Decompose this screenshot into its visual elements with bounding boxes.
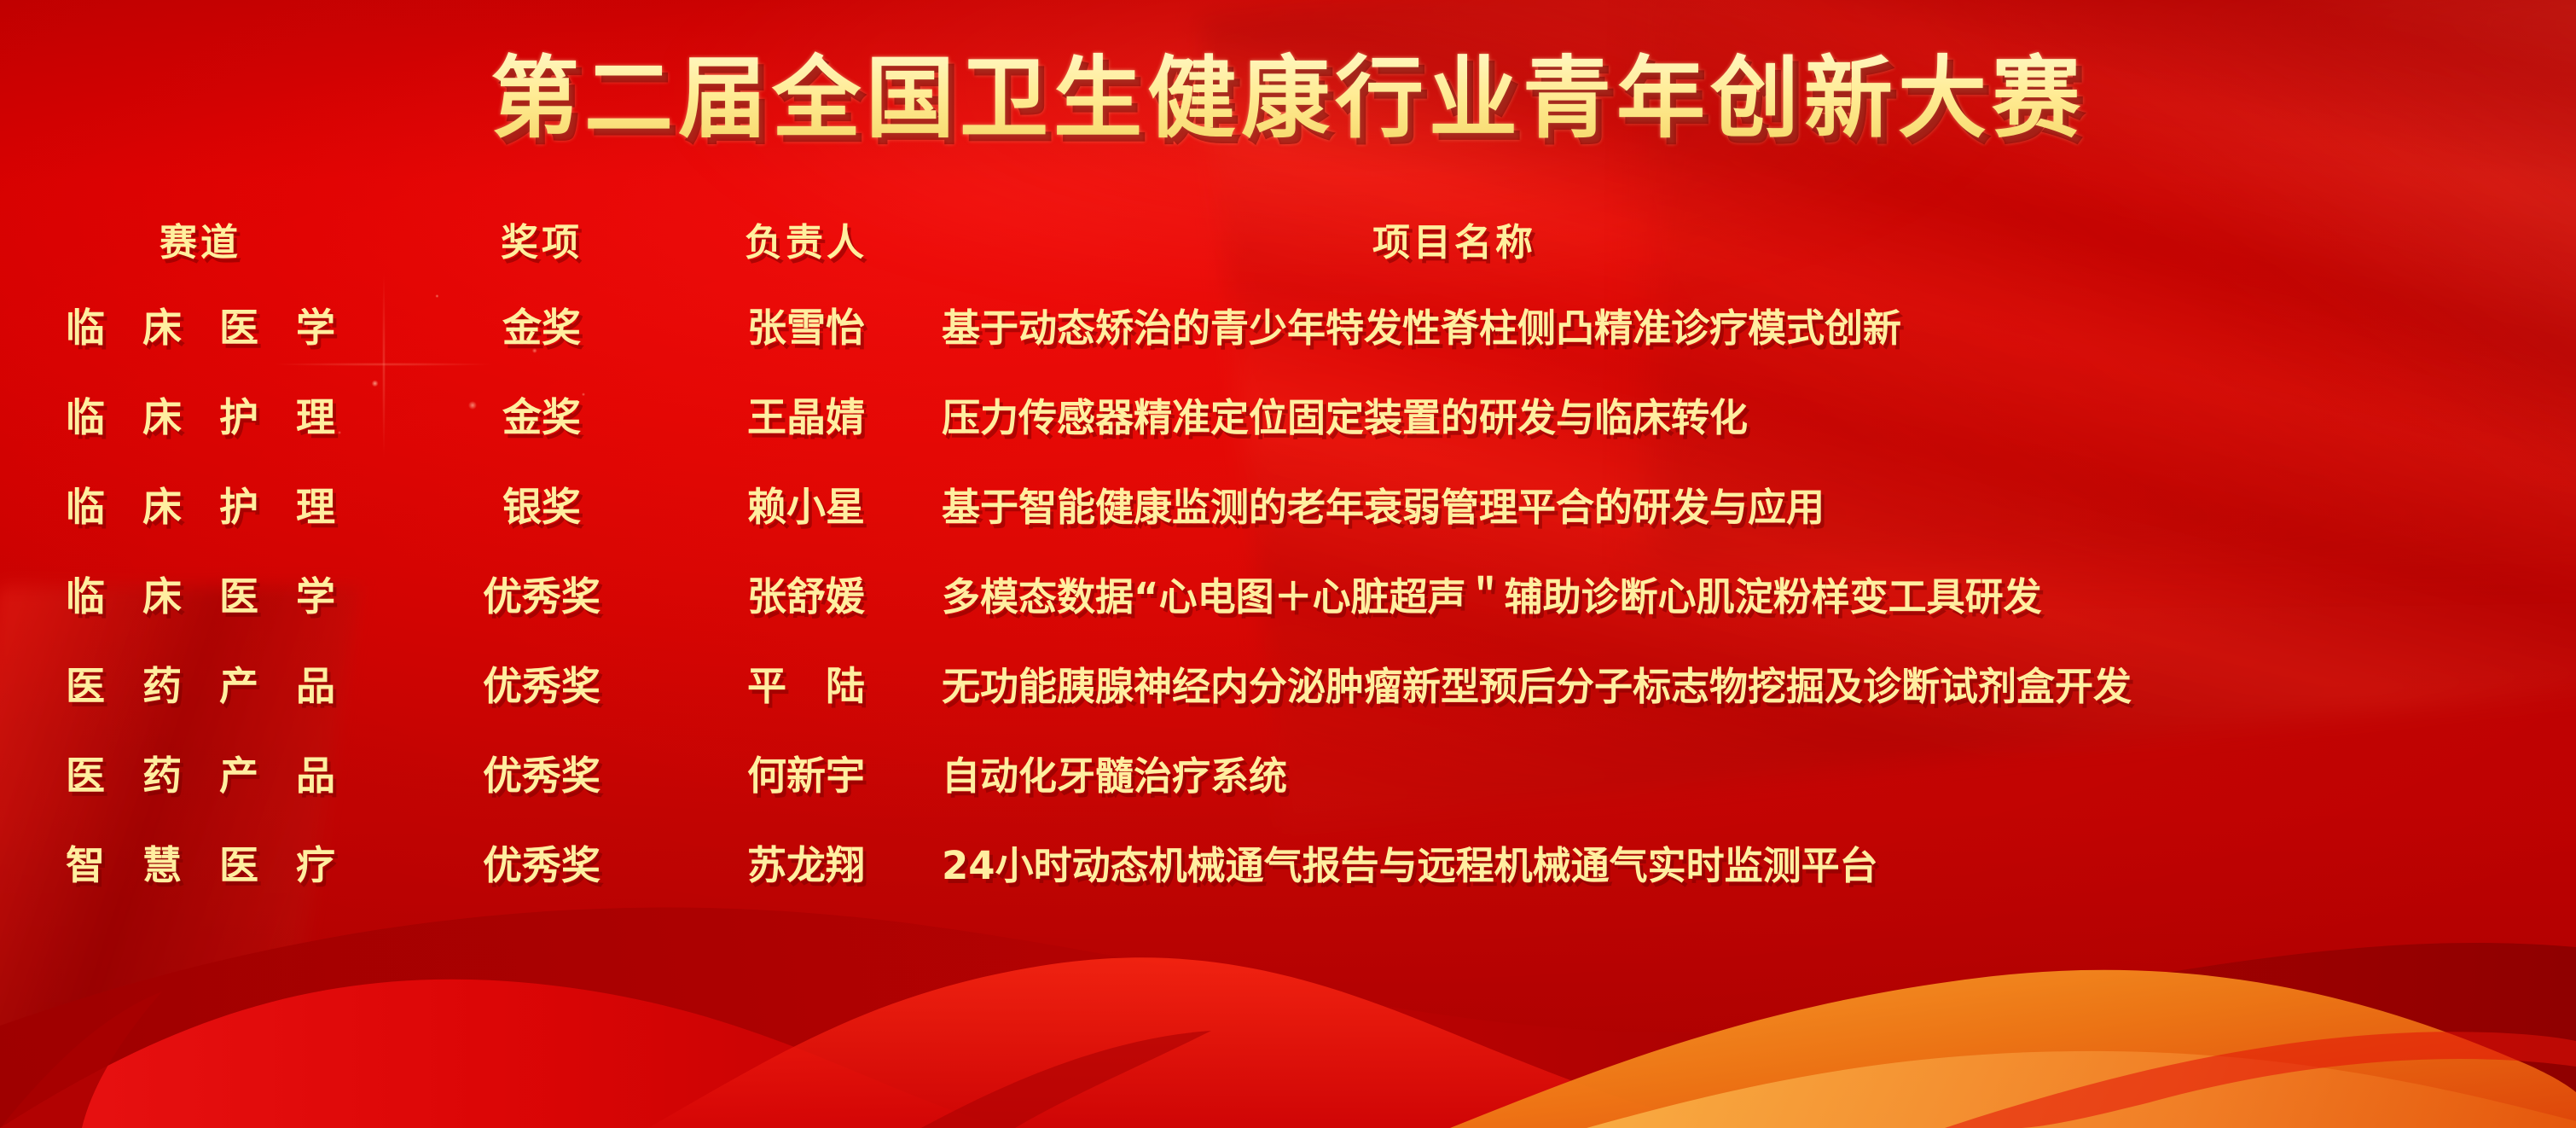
cell-award: 银奖 <box>401 476 682 532</box>
table-row: 智 慧 医 疗 优秀奖 苏龙翔 24小时动态机械通气报告与远程机械通气实时监测平… <box>0 834 2576 924</box>
cell-track: 临 床 医 学 <box>0 297 401 353</box>
table-row: 临 床 医 学 优秀奖 张舒媛 多模态数据“心电图＋心脏超声＂辅助诊断心肌淀粉样… <box>0 566 2576 655</box>
cell-project: 基于动态矫治的青少年特发性脊柱侧凸精准诊疗模式创新 <box>930 297 2576 352</box>
cell-project: 自动化牙髓治疗系统 <box>930 745 2576 800</box>
column-header-leader: 负责人 <box>682 212 930 266</box>
column-header-award: 奖项 <box>401 212 682 266</box>
title-container: 第二届全国卫生健康行业青年创新大赛 <box>0 49 2576 147</box>
cell-leader: 平 陆 <box>682 655 930 712</box>
banner-content: 第二届全国卫生健康行业青年创新大赛 赛道 奖项 负责人 项目名称 临 床 医 学… <box>0 0 2576 1128</box>
column-header-project: 项目名称 <box>930 212 2576 266</box>
table-row: 临 床 护 理 金奖 王晶婧 压力传感器精准定位固定装置的研发与临床转化 <box>0 387 2576 476</box>
cell-track: 医 药 产 品 <box>0 655 401 712</box>
table-row: 医 药 产 品 优秀奖 何新宇 自动化牙髓治疗系统 <box>0 745 2576 834</box>
table-header-row: 赛道 奖项 负责人 项目名称 <box>0 212 2576 297</box>
table-row: 医 药 产 品 优秀奖 平 陆 无功能胰腺神经内分泌肿瘤新型预后分子标志物挖掘及… <box>0 655 2576 745</box>
table-row: 临 床 护 理 银奖 赖小星 基于智能健康监测的老年衰弱管理平合的研发与应用 <box>0 476 2576 566</box>
cell-project: 24小时动态机械通气报告与远程机械通气实时监测平台 <box>930 834 2576 890</box>
cell-project: 无功能胰腺神经内分泌肿瘤新型预后分子标志物挖掘及诊断试剂盒开发 <box>930 655 2576 711</box>
cell-track: 临 床 护 理 <box>0 387 401 443</box>
cell-project: 基于智能健康监测的老年衰弱管理平合的研发与应用 <box>930 476 2576 532</box>
cell-leader: 王晶婧 <box>682 387 930 443</box>
cell-award: 金奖 <box>401 297 682 353</box>
table-row: 临 床 医 学 金奖 张雪怡 基于动态矫治的青少年特发性脊柱侧凸精准诊疗模式创新 <box>0 297 2576 387</box>
cell-track: 临 床 护 理 <box>0 476 401 532</box>
column-header-track: 赛道 <box>0 212 401 266</box>
cell-award: 优秀奖 <box>401 834 682 891</box>
cell-leader: 何新宇 <box>682 745 930 801</box>
cell-award: 优秀奖 <box>401 566 682 622</box>
cell-leader: 苏龙翔 <box>682 834 930 891</box>
cell-project: 压力传感器精准定位固定装置的研发与临床转化 <box>930 387 2576 442</box>
cell-track: 智 慧 医 疗 <box>0 834 401 891</box>
cell-leader: 张舒媛 <box>682 566 930 622</box>
cell-award: 金奖 <box>401 387 682 443</box>
cell-leader: 张雪怡 <box>682 297 930 353</box>
award-list-table: 赛道 奖项 负责人 项目名称 临 床 医 学 金奖 张雪怡 基于动态矫治的青少年… <box>0 212 2576 924</box>
cell-leader: 赖小星 <box>682 476 930 532</box>
cell-project: 多模态数据“心电图＋心脏超声＂辅助诊断心肌淀粉样变工具研发 <box>930 566 2576 621</box>
cell-award: 优秀奖 <box>401 655 682 712</box>
cell-award: 优秀奖 <box>401 745 682 801</box>
page-title: 第二届全国卫生健康行业青年创新大赛 <box>490 49 2086 147</box>
cell-track: 临 床 医 学 <box>0 566 401 622</box>
cell-track: 医 药 产 品 <box>0 745 401 801</box>
